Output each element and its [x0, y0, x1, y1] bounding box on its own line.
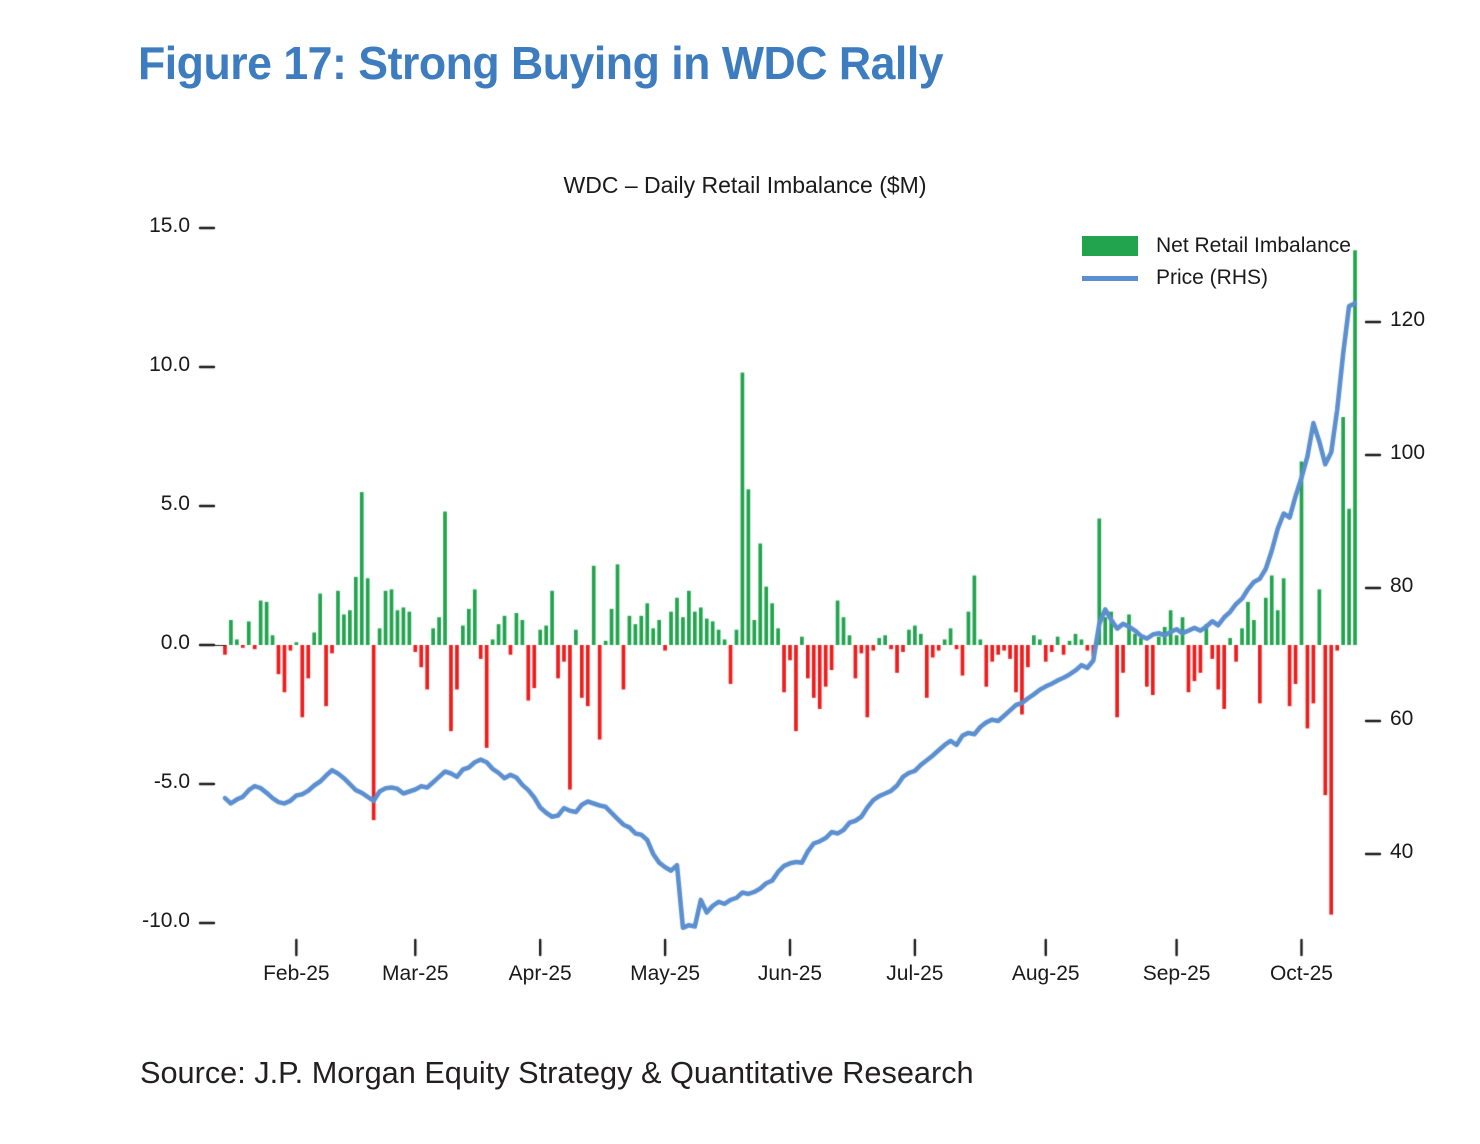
legend-item-price-rhs[interactable]: Price (RHS) — [1082, 262, 1351, 294]
y-right-tick-label-2: 80 — [1390, 574, 1413, 598]
x-tick-label-5: Jul-25 — [855, 962, 975, 986]
x-tick-label-7: Sep-25 — [1117, 962, 1237, 986]
legend-label-net-retail-imbalance: Net Retail Imbalance — [1156, 234, 1351, 258]
chart-legend: Net Retail Imbalance Price (RHS) — [1082, 230, 1351, 294]
y-right-tick-label-4: 40 — [1390, 840, 1413, 864]
x-tick-label-4: Jun-25 — [730, 962, 850, 986]
y-left-tick-label-4: -5.0 — [0, 770, 190, 794]
legend-label-price-rhs: Price (RHS) — [1156, 266, 1268, 290]
x-tick-label-3: May-25 — [605, 962, 725, 986]
legend-swatch-bar-icon — [1082, 236, 1138, 256]
x-tick-label-1: Mar-25 — [355, 962, 475, 986]
x-tick-label-8: Oct-25 — [1241, 962, 1361, 986]
x-tick-label-6: Aug-25 — [986, 962, 1106, 986]
chart-container: WDC – Daily Retail Imbalance ($M) Net Re… — [0, 150, 1480, 1010]
y-left-tick-label-3: 0.0 — [0, 631, 190, 655]
y-left-tick-label-0: 15.0 — [0, 214, 190, 238]
y-right-tick-label-3: 60 — [1390, 707, 1413, 731]
x-tick-label-2: Apr-25 — [480, 962, 600, 986]
figure-page: Figure 17: Strong Buying in WDC Rally WD… — [0, 0, 1480, 1144]
legend-swatch-line-icon — [1082, 268, 1138, 288]
source-note: Source: J.P. Morgan Equity Strategy & Qu… — [140, 1055, 974, 1091]
chart-title: WDC – Daily Retail Imbalance ($M) — [0, 172, 1480, 199]
y-right-tick-label-0: 120 — [1390, 308, 1425, 332]
y-left-tick-label-5: -10.0 — [0, 909, 190, 933]
legend-item-net-retail-imbalance[interactable]: Net Retail Imbalance — [1082, 230, 1351, 262]
y-left-tick-label-1: 10.0 — [0, 353, 190, 377]
x-tick-label-0: Feb-25 — [236, 962, 356, 986]
y-right-tick-label-1: 100 — [1390, 441, 1425, 465]
y-left-tick-label-2: 5.0 — [0, 492, 190, 516]
page-title: Figure 17: Strong Buying in WDC Rally — [138, 36, 943, 90]
